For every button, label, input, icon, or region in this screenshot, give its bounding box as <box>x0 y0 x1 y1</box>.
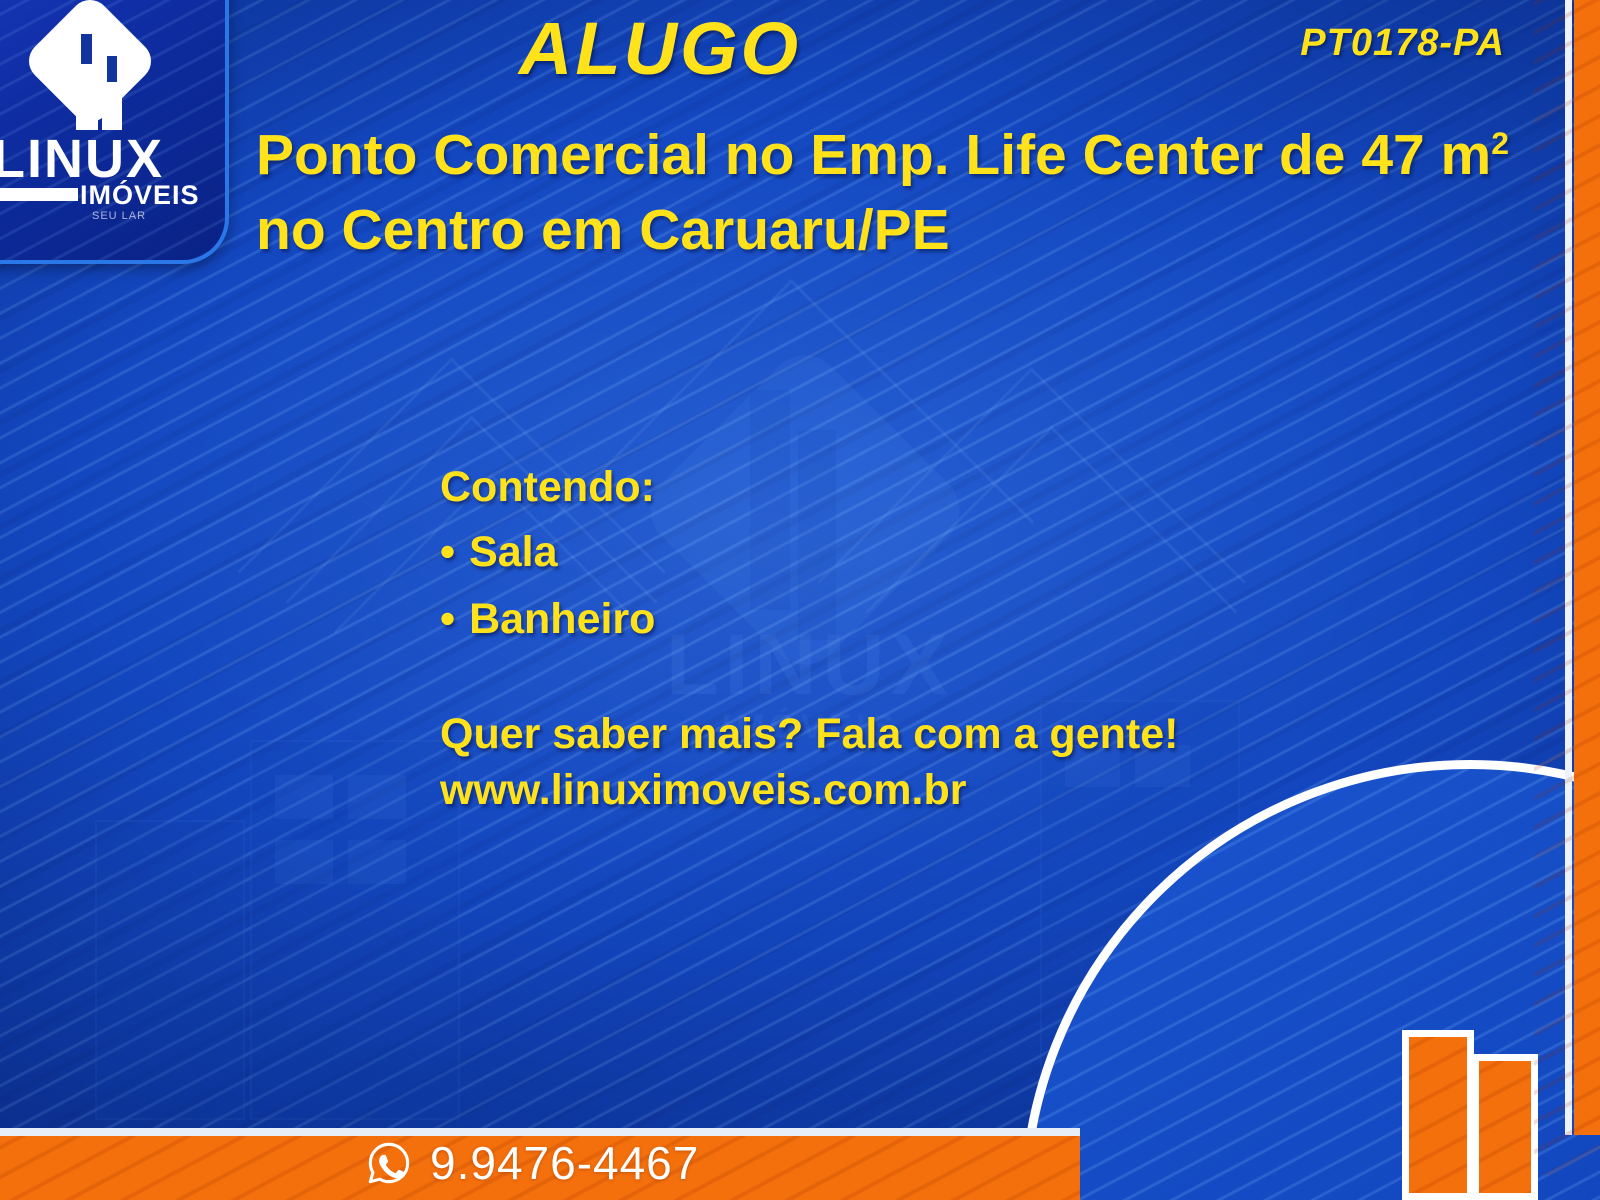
ad-kicker-alugo: ALUGO <box>0 12 1320 86</box>
whatsapp-icon[interactable] <box>366 1140 412 1186</box>
ad-body: Contendo: •Sala •Banheiro Quer saber mai… <box>440 466 1340 819</box>
feature-label: Banheiro <box>469 595 655 643</box>
logo-underline <box>0 188 78 201</box>
footer-white-divider <box>0 1128 1080 1136</box>
phone-number[interactable]: 9.9476-4467 <box>430 1140 699 1186</box>
feature-label: Sala <box>469 528 557 576</box>
feature-item: •Sala <box>440 531 1340 574</box>
contact-info[interactable]: 9.9476-4467 <box>366 1140 699 1186</box>
building-column <box>1472 1054 1538 1200</box>
bullet-icon: • <box>440 528 455 576</box>
right-orange-strip <box>1574 0 1600 1135</box>
feature-item: •Banheiro <box>440 598 1340 641</box>
bullet-icon: • <box>440 595 455 643</box>
contact-footer-bar: 9.9476-4467 <box>0 1136 1080 1200</box>
call-to-action-text: Quer saber mais? Fala com a gente! <box>440 707 1340 763</box>
reference-code: PT0178-PA <box>1300 22 1505 65</box>
headline-superscript: 2 <box>1491 125 1509 161</box>
website-url[interactable]: www.linuximoveis.com.br <box>440 763 1340 819</box>
building-column <box>1402 1030 1474 1200</box>
ad-headline: Ponto Comercial no Emp. Life Center de 4… <box>256 118 1556 268</box>
logo-brand-sub: IMÓVEIS <box>80 182 200 209</box>
headline-line-1: Ponto Comercial no Emp. Life Center de 4… <box>256 123 1491 187</box>
logo-brand-tagline: SEU LAR <box>92 210 146 222</box>
logo-brand-name: LINUX <box>0 132 182 186</box>
advertisement-poster: LINUX IMÓVEIS LINUX IMÓVEIS SEU LAR ALUG… <box>0 0 1600 1200</box>
headline-line-2: no Centro em Caruaru/PE <box>256 198 950 262</box>
contents-label: Contendo: <box>440 466 1340 509</box>
